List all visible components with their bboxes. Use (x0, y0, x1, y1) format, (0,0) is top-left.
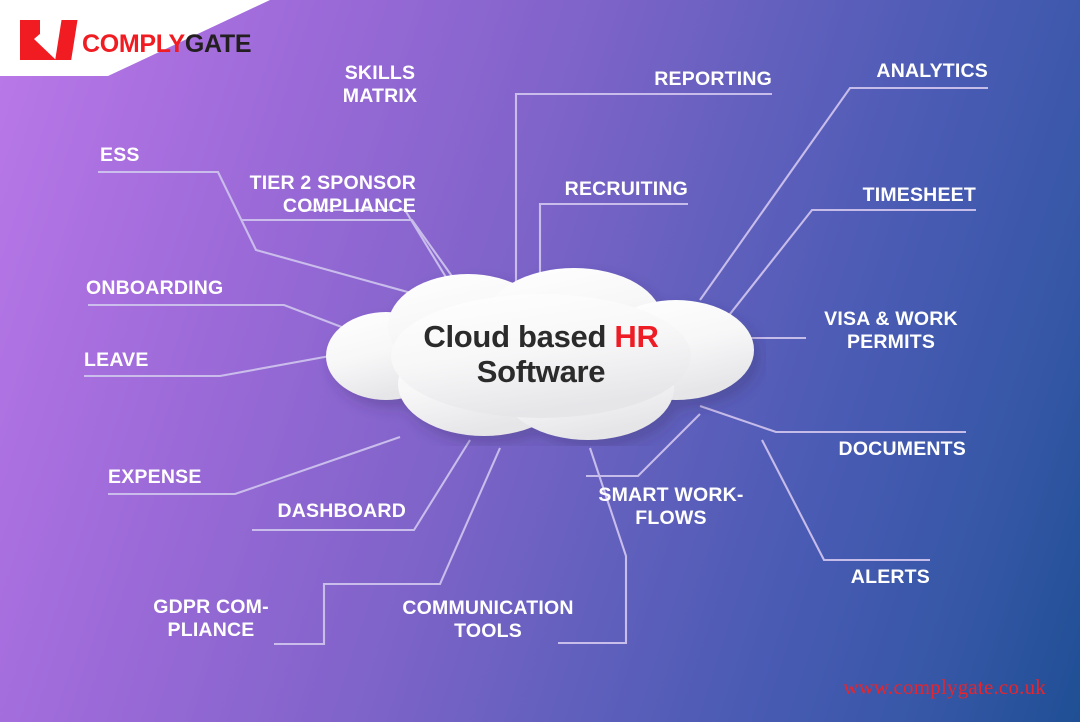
cloud-svg (316, 264, 766, 446)
node-documents[interactable]: DOCUMENTS (766, 438, 966, 461)
node-visa-work-permits[interactable]: VISA & WORK PERMITS (806, 308, 976, 354)
node-ess[interactable]: ESS (100, 144, 260, 167)
node-reporting[interactable]: REPORTING (572, 68, 772, 91)
node-expense[interactable]: EXPENSE (108, 466, 288, 489)
infographic-canvas: COMPLYGATE (0, 0, 1080, 722)
node-communication-tools[interactable]: COMMUNICATION TOOLS (372, 597, 604, 643)
node-alerts[interactable]: ALERTS (790, 566, 930, 589)
node-analytics[interactable]: ANALYTICS (788, 60, 988, 83)
complygate-arrow-mark-icon (18, 17, 80, 63)
website-url[interactable]: www.complygate.co.uk (843, 675, 1046, 700)
node-skills-matrix[interactable]: SKILLS MATRIX (310, 62, 450, 108)
complygate-logo[interactable]: COMPLYGATE (18, 17, 251, 63)
node-gdpr-compliance[interactable]: GDPR COM- PLIANCE (128, 596, 294, 642)
cloud-shape: Cloud based HR Software (316, 264, 766, 446)
node-leave[interactable]: LEAVE (84, 349, 244, 372)
node-dashboard[interactable]: DASHBOARD (220, 500, 406, 523)
logo-text-comply: COMPLY (82, 30, 185, 58)
logo-wordmark: COMPLYGATE (82, 32, 251, 57)
logo-text-gate: GATE (185, 30, 251, 58)
node-tier-2-sponsor-compliance[interactable]: TIER 2 SPONSOR COMPLIANCE (172, 172, 416, 218)
node-smart-workflows[interactable]: SMART WORK- FLOWS (586, 484, 756, 530)
node-timesheet[interactable]: TIMESHEET (800, 184, 976, 207)
node-onboarding[interactable]: ONBOARDING (86, 277, 306, 300)
node-recruiting[interactable]: RECRUITING (488, 178, 688, 201)
